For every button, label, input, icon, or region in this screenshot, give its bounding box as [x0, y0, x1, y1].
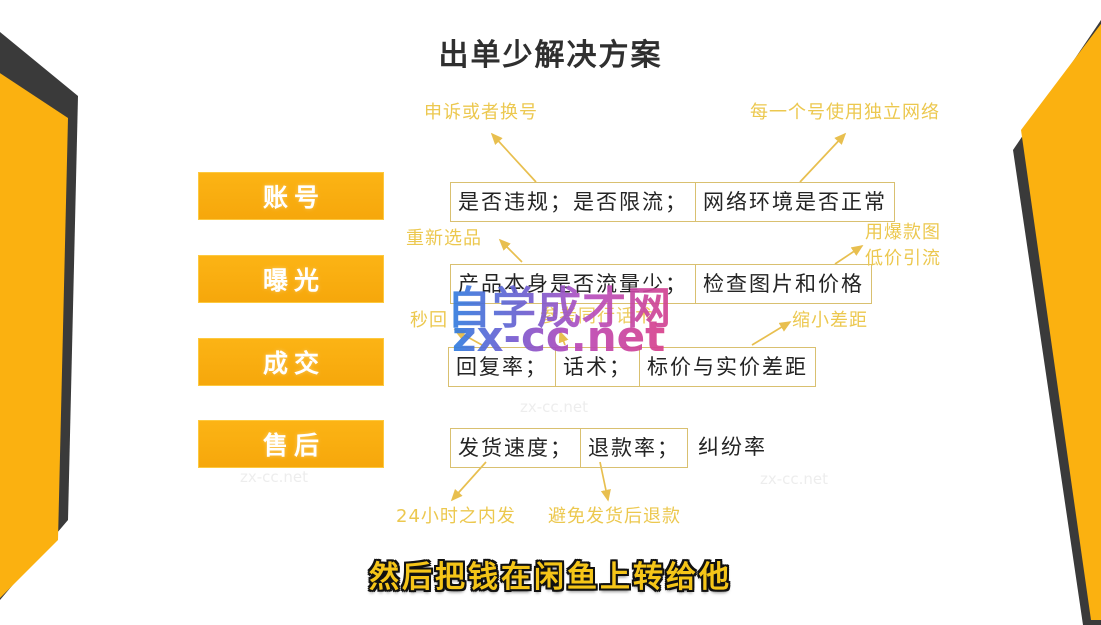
- note-avoid-refund-after-ship: 避免发货后退款: [548, 506, 681, 527]
- page-title: 出单少解决方案: [0, 30, 1101, 74]
- category-pill-aftersales[interactable]: 售后: [198, 420, 384, 468]
- note-narrow-gap: 缩小差距: [792, 310, 868, 331]
- note-reference-peer-script: 参考同行话术: [540, 306, 654, 327]
- content-row-transaction: 回复率； 话术； 标价与实价差距: [448, 347, 816, 387]
- content-cell: 发货速度；: [450, 428, 581, 468]
- note-low-price-traffic: 低价引流: [865, 248, 941, 269]
- content-row-aftersales: 发货速度； 退款率； 纠纷率: [450, 428, 774, 468]
- watermark-ghost: zx-cc.net: [240, 468, 308, 486]
- content-cell: 是否违规；是否限流；: [450, 182, 696, 222]
- content-row-account: 是否违规；是否限流； 网络环境是否正常: [450, 182, 895, 222]
- note-reselect-product: 重新选品: [406, 228, 482, 249]
- category-pill-account[interactable]: 账号: [198, 172, 384, 220]
- note-independent-network: 每一个号使用独立网络: [750, 102, 940, 123]
- content-cell: 标价与实价差距: [640, 347, 816, 387]
- content-cell: 回复率；: [448, 347, 556, 387]
- note-instant-reply: 秒回: [410, 310, 448, 331]
- content-cell: 纠纷率: [688, 428, 774, 468]
- slide-canvas: 出单少解决方案 账号 曝光: [0, 0, 1101, 625]
- note-appeal-or-change-account: 申诉或者换号: [424, 102, 538, 123]
- decoration-left: [0, 0, 130, 625]
- content-row-exposure: 产品本身是否流量少； 检查图片和价格: [450, 264, 872, 304]
- subtitle-caption: 然后把钱在闲鱼上转给他: [0, 552, 1101, 596]
- content-cell: 话术；: [556, 347, 640, 387]
- watermark-ghost: zx-cc.net: [520, 398, 588, 416]
- content-cell: 网络环境是否正常: [696, 182, 895, 222]
- content-cell: 退款率；: [581, 428, 688, 468]
- content-cell: 检查图片和价格: [696, 264, 872, 304]
- watermark-ghost: zx-cc.net: [760, 470, 828, 488]
- content-cell: 产品本身是否流量少；: [450, 264, 696, 304]
- category-pill-transaction[interactable]: 成交: [198, 338, 384, 386]
- category-pill-exposure[interactable]: 曝光: [198, 255, 384, 303]
- decoration-right: [971, 0, 1101, 625]
- note-ship-within-24h: 24小时之内发: [396, 506, 516, 527]
- note-use-hot-image: 用爆款图: [865, 222, 941, 243]
